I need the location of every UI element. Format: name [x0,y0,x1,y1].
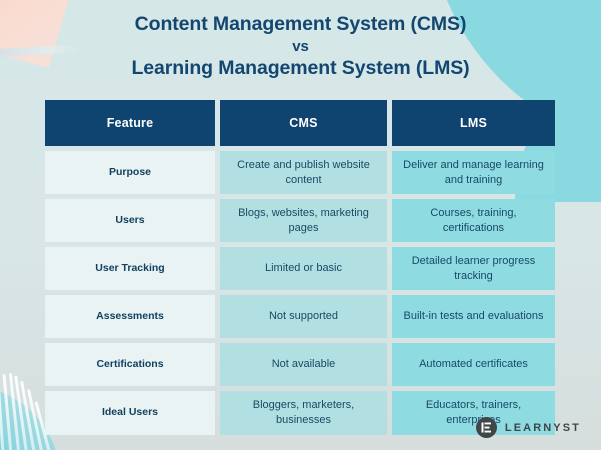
row-lms-assessments: Built-in tests and evaluations [392,295,555,338]
comparison-table: Feature CMS LMS Purpose Create and publi… [45,100,555,440]
infographic-canvas: Content Management System (CMS) vs Learn… [0,0,601,450]
row-cms-users: Blogs, websites, marketing pages [220,199,387,242]
row-feature-certifications: Certifications [45,343,215,386]
page-title: Content Management System (CMS) vs Learn… [0,12,601,81]
row-cms-ideal-users: Bloggers, marketers, businesses [220,391,387,435]
title-line-vs: vs [0,37,601,56]
row-feature-assessments: Assessments [45,295,215,338]
table-row: Certifications Not available Automated c… [45,343,555,386]
brand-name: LEARNYST [505,422,581,434]
table-row: Purpose Create and publish website conte… [45,151,555,194]
row-lms-purpose: Deliver and manage learning and training [392,151,555,194]
brand-logo: LEARNYST [476,417,581,438]
row-feature-users: Users [45,199,215,242]
row-lms-certifications: Automated certificates [392,343,555,386]
title-line-lms: Learning Management System (LMS) [0,56,601,81]
row-feature-user-tracking: User Tracking [45,247,215,290]
row-cms-user-tracking: Limited or basic [220,247,387,290]
table-row: User Tracking Limited or basic Detailed … [45,247,555,290]
column-header-lms: LMS [392,100,555,146]
row-feature-purpose: Purpose [45,151,215,194]
column-header-feature: Feature [45,100,215,146]
row-cms-purpose: Create and publish website content [220,151,387,194]
row-feature-ideal-users: Ideal Users [45,391,215,435]
row-lms-users: Courses, training, certifications [392,199,555,242]
table-header-row: Feature CMS LMS [45,100,555,146]
column-header-cms: CMS [220,100,387,146]
title-line-cms: Content Management System (CMS) [0,12,601,37]
table-row: Users Blogs, websites, marketing pages C… [45,199,555,242]
row-cms-assessments: Not supported [220,295,387,338]
row-lms-user-tracking: Detailed learner progress tracking [392,247,555,290]
table-row: Assessments Not supported Built-in tests… [45,295,555,338]
row-cms-certifications: Not available [220,343,387,386]
learnyst-e-monogram-icon [476,417,497,438]
